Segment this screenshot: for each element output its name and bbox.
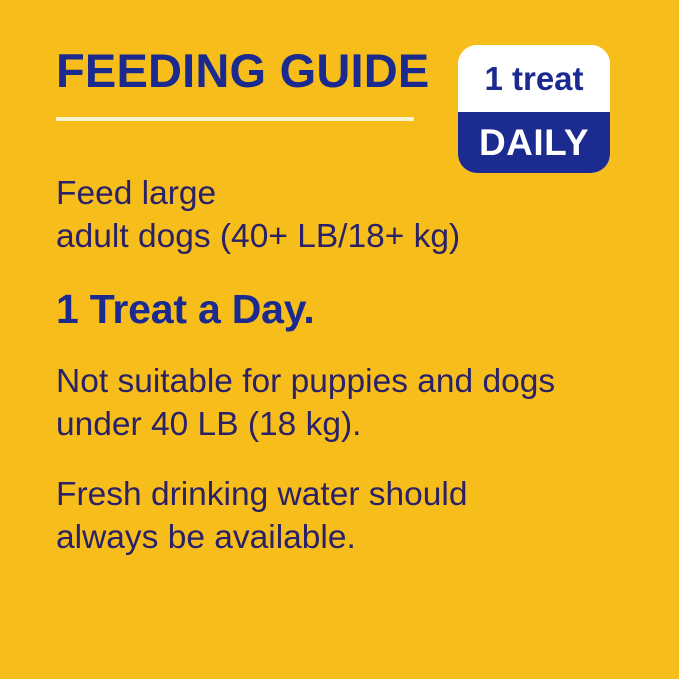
page-title: FEEDING GUIDE (56, 46, 429, 96)
badge-treat-count-label: 1 treat (484, 62, 583, 95)
not-suitable-line-1: Not suitable for puppies and dogs (56, 360, 656, 403)
feed-rule-line-1: Feed large (56, 172, 656, 215)
daily-serving-highlight: 1 Treat a Day. (56, 285, 656, 333)
badge-bottom-section: DAILY (458, 112, 610, 173)
water-line-2: always be available. (56, 516, 656, 559)
badge-top-section: 1 treat (458, 45, 610, 112)
daily-frequency-badge: 1 treat DAILY (458, 45, 610, 173)
badge-daily-label: DAILY (479, 124, 589, 161)
not-suitable-paragraph: Not suitable for puppies and dogs under … (56, 360, 656, 446)
feed-rule-paragraph: Feed large adult dogs (40+ LB/18+ kg) (56, 172, 656, 258)
header-row: FEEDING GUIDE 1 treat DAILY (0, 0, 679, 180)
feeding-guide-panel: FEEDING GUIDE 1 treat DAILY Feed large a… (0, 0, 679, 679)
feeding-instructions: Feed large adult dogs (40+ LB/18+ kg) 1 … (56, 172, 656, 559)
water-line-1: Fresh drinking water should (56, 473, 656, 516)
water-paragraph: Fresh drinking water should always be av… (56, 473, 656, 559)
feed-rule-line-2: adult dogs (40+ LB/18+ kg) (56, 215, 656, 258)
not-suitable-line-2: under 40 LB (18 kg). (56, 403, 656, 446)
title-divider (56, 117, 414, 121)
